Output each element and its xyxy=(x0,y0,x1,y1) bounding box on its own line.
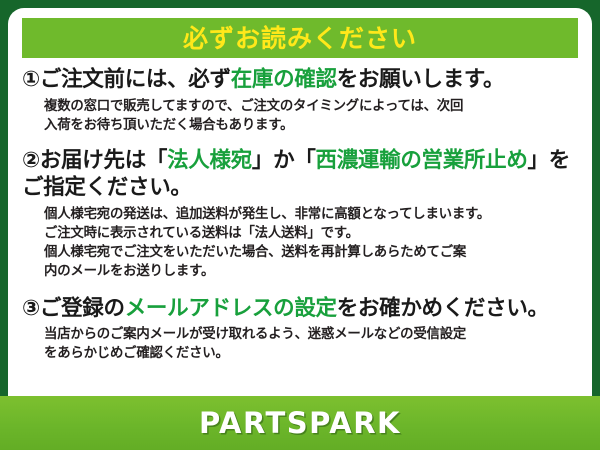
notice-item-3-sub-line-1: 当店からのご案内メールが受け取れるよう、迷惑メールなどの受信設定 xyxy=(44,325,578,344)
brand-logo: PARTSPARK xyxy=(199,409,401,438)
notice-item-2-heading-accent-1: 法人様宛 xyxy=(167,148,252,173)
footer-bar: PARTSPARK xyxy=(0,396,600,450)
notice-item-1-sub-line-1: 複数の窓口で販売してますので、ご注文のタイミングによっては、次回 xyxy=(44,97,578,116)
page-title: 必ずお読みください xyxy=(183,26,417,51)
notice-item-2-sub: 個人様宅宛の発送は、追加送料が発生し、非常に高額となってしまいます。 ご注文時に… xyxy=(22,205,578,281)
notice-item-1-heading: ①ご注文前には、必ず在庫の確認をお願いします。 xyxy=(22,66,578,94)
notice-item-1-marker: ① xyxy=(22,67,40,92)
notice-item-3-sub-line-2: をあらかじめご確認ください。 xyxy=(44,344,578,363)
notice-item-1-heading-accent: 在庫の確認 xyxy=(231,67,337,92)
notice-item-3-sub: 当店からのご案内メールが受け取れるよう、迷惑メールなどの受信設定 をあらかじめご… xyxy=(22,325,578,363)
notice-item-1-heading-part-3: をお願いします。 xyxy=(337,67,504,92)
notice-item-3-heading-part-3: をお確かめください。 xyxy=(337,296,549,321)
header-bar: 必ずお読みください xyxy=(22,18,578,58)
notice-panel: 必ずお読みください ①ご注文前には、必ず在庫の確認をお願いします。 複数の窓口で… xyxy=(8,8,592,404)
notice-item-2-heading-part-3: 」か「 xyxy=(252,148,316,173)
spacer-after-item-1 xyxy=(22,139,578,147)
notice-item-2-heading-accent-2: 西濃運輸の営業所止め xyxy=(316,148,528,173)
notice-item-2-sub-line-1: 個人様宅宛の発送は、追加送料が発生し、非常に高額となってしまいます。 xyxy=(44,205,578,224)
notice-item-2-heading: ②お届け先は「法人様宛」か「西濃運輸の営業所止め」をご指定ください。 xyxy=(22,147,578,202)
notice-item-2-heading-part-1: お届け先は「 xyxy=(40,148,167,173)
notice-item-2-marker: ② xyxy=(22,148,40,173)
notice-item-2-heading-part-5: 」 xyxy=(528,148,549,173)
notice-item-2-sub-line-2: ご注文時に表示されている送料は「法人送料」です。 xyxy=(44,224,578,243)
notice-item-1-heading-part-1: ご注文前には、必ず xyxy=(40,67,231,92)
notice-item-3-heading-part-1: ご登録の xyxy=(40,296,125,321)
notice-item-3-heading: ③ご登録のメールアドレスの設定をお確かめください。 xyxy=(22,295,578,323)
notice-frame: 必ずお読みください ①ご注文前には、必ず在庫の確認をお願いします。 複数の窓口で… xyxy=(0,0,600,450)
notice-item-1: ①ご注文前には、必ず在庫の確認をお願いします。 複数の窓口で販売してますので、ご… xyxy=(22,66,578,135)
notice-item-3: ③ご登録のメールアドレスの設定をお確かめください。 当店からのご案内メールが受け… xyxy=(22,295,578,364)
notice-item-2: ②お届け先は「法人様宛」か「西濃運輸の営業所止め」をご指定ください。 個人様宅宛… xyxy=(22,147,578,281)
notice-list: ①ご注文前には、必ず在庫の確認をお願いします。 複数の窓口で販売してますので、ご… xyxy=(22,66,578,363)
notice-item-1-sub: 複数の窓口で販売してますので、ご注文のタイミングによっては、次回 入荷をお待ち頂… xyxy=(22,97,578,135)
notice-item-3-heading-accent: メールアドレスの設定 xyxy=(125,296,337,321)
notice-item-1-sub-line-2: 入荷をお待ち頂いただく場合もあります。 xyxy=(44,116,578,135)
notice-item-2-sub-line-3: 個人様宅宛でご注文をいただいた場合、送料を再計算しあらためてご案 xyxy=(44,243,578,262)
notice-item-2-sub-line-4: 内のメールをお送りします。 xyxy=(44,262,578,281)
notice-item-3-marker: ③ xyxy=(22,296,40,321)
spacer-after-item-2 xyxy=(22,285,578,295)
